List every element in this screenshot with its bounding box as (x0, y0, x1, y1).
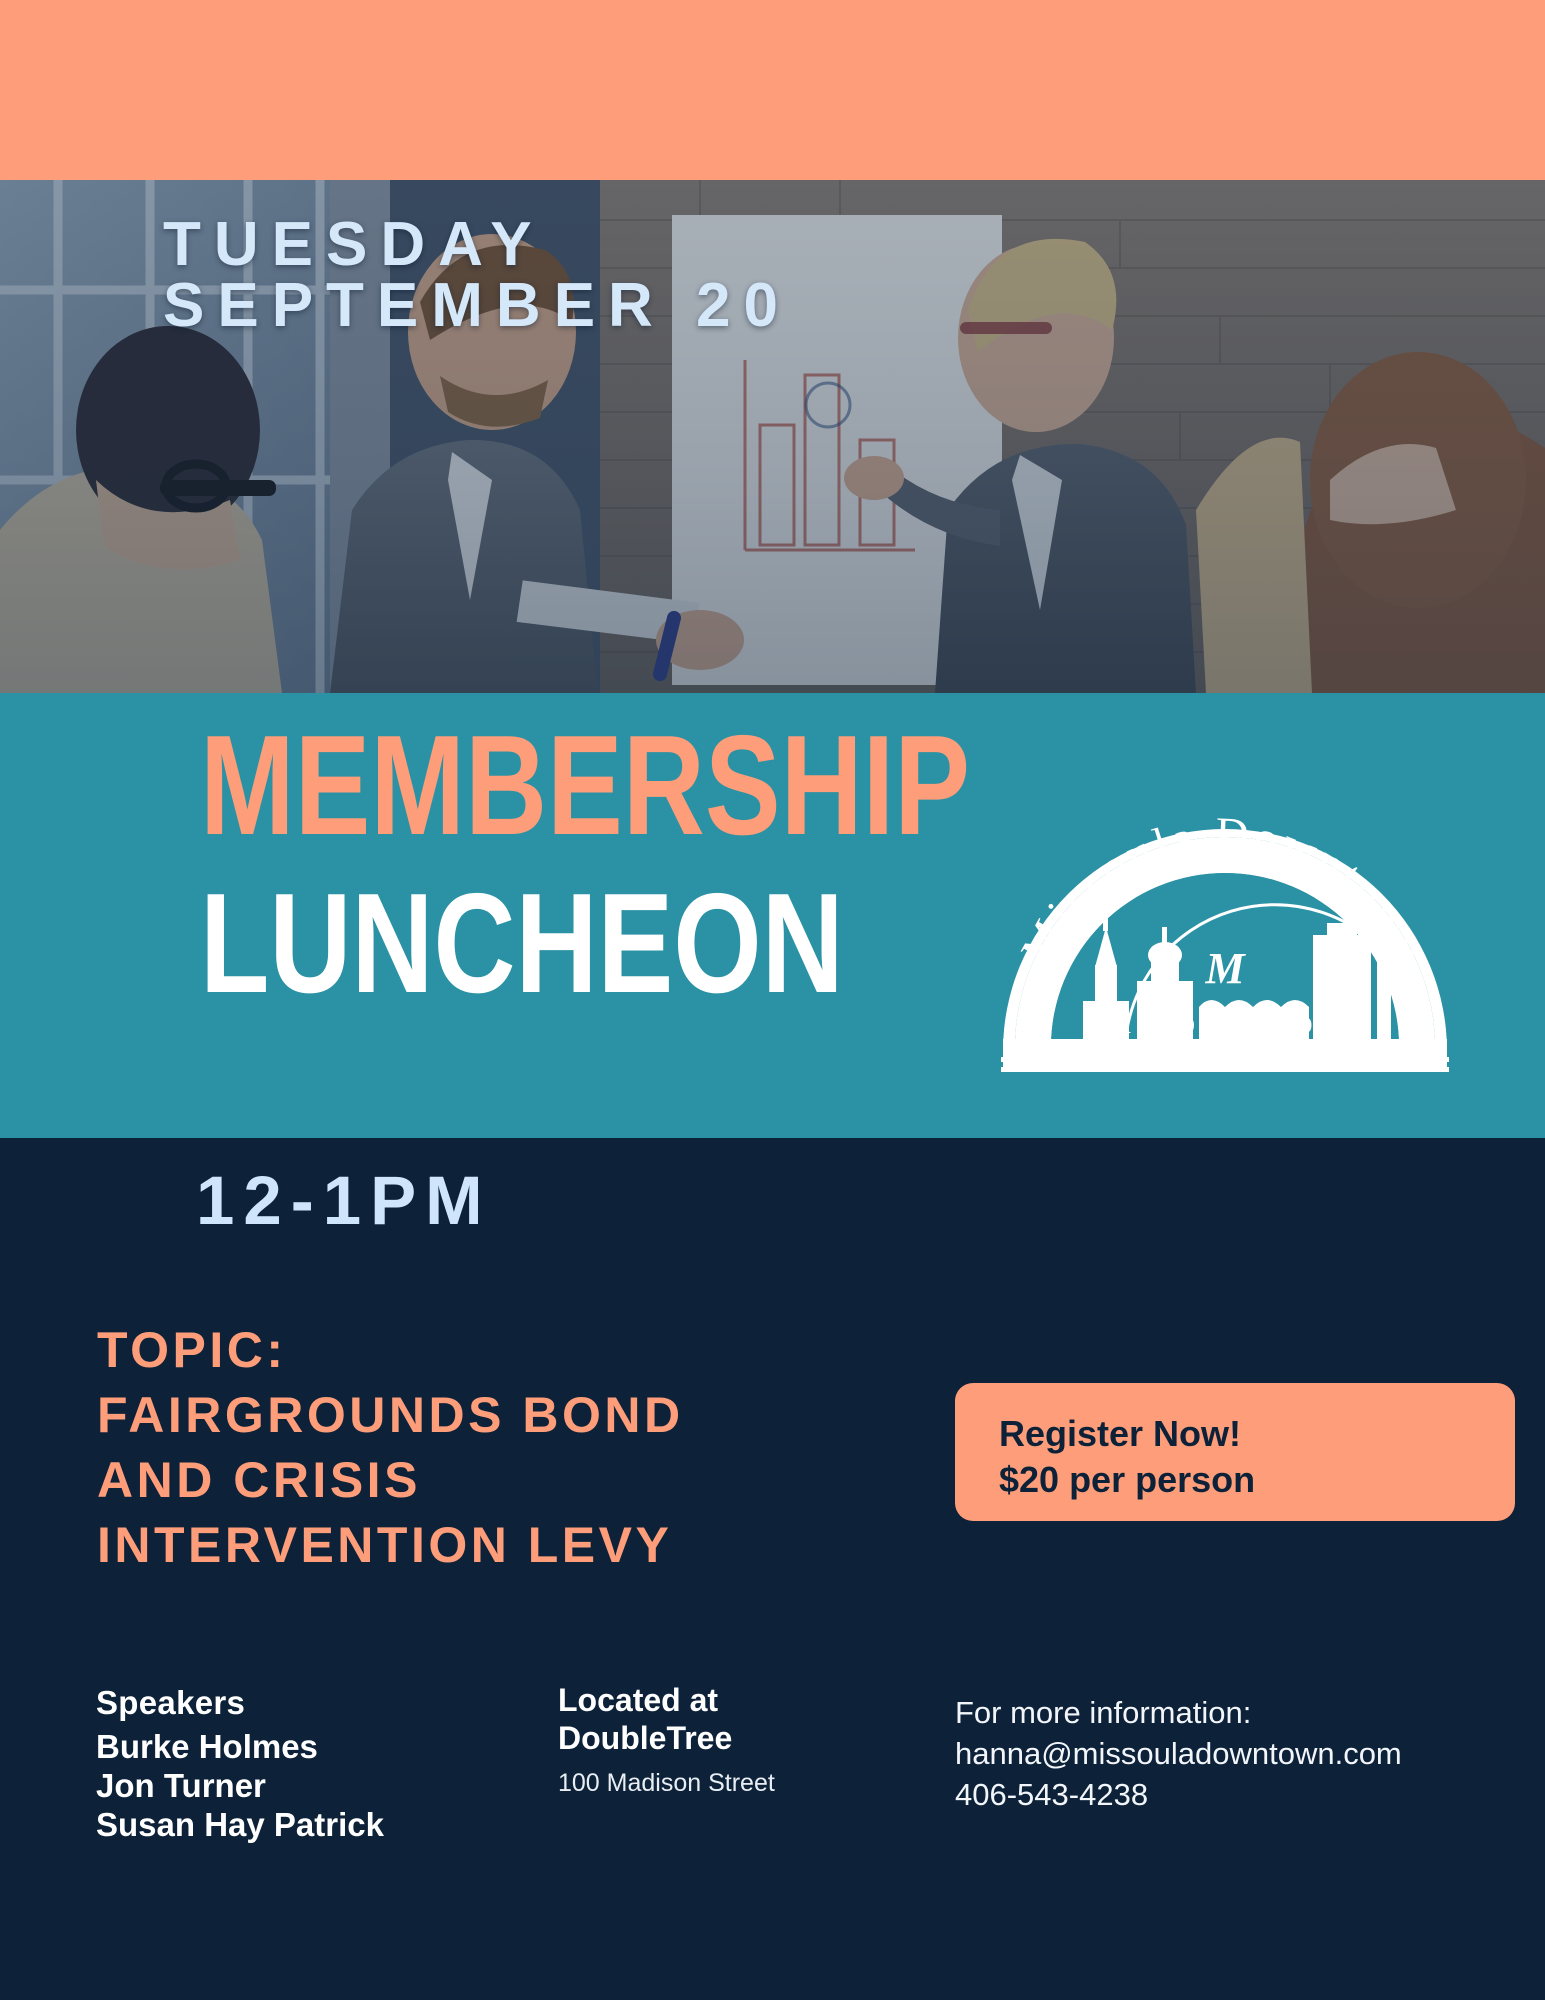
top-accent-bar (0, 0, 1545, 180)
logo-monogram: M (1204, 944, 1246, 993)
speakers-block: Speakers Burke Holmes Jon Turner Susan H… (96, 1684, 384, 1845)
register-button[interactable]: Register Now! $20 per person (955, 1383, 1515, 1521)
topic-line-2: AND CRISIS (97, 1448, 684, 1513)
title-membership: MEMBERSHIP (200, 720, 970, 852)
topic-line-1: FAIRGROUNDS BOND (97, 1383, 684, 1448)
contact-block: For more information: hanna@missouladown… (955, 1693, 1402, 1816)
topic-line-3: INTERVENTION LEVY (97, 1513, 684, 1578)
flyer-root: TUESDAY SEPTEMBER 20 MEMBERSHIP LUNCHEON (0, 0, 1545, 2000)
topic-block: TOPIC: FAIRGROUNDS BOND AND CRISIS INTER… (97, 1318, 684, 1578)
missoula-downtown-association-logo: M Missoula Downtown Association (975, 795, 1475, 1075)
speakers-heading: Speakers (96, 1684, 384, 1722)
event-date: TUESDAY SEPTEMBER 20 (163, 215, 791, 337)
speaker-3: Susan Hay Patrick (96, 1806, 384, 1845)
venue-address: 100 Madison Street (558, 1769, 775, 1798)
contact-email[interactable]: hanna@missouladowntown.com (955, 1734, 1402, 1775)
mda-logo: M Missoula Downtown Association (975, 795, 1475, 1075)
register-price: $20 per person (999, 1457, 1515, 1503)
venue-block: Located at DoubleTree 100 Madison Street (558, 1682, 775, 1798)
contact-phone[interactable]: 406-543-4238 (955, 1775, 1402, 1816)
speaker-2: Jon Turner (96, 1767, 384, 1806)
speaker-1: Burke Holmes (96, 1728, 384, 1767)
title-luncheon: LUNCHEON (200, 878, 970, 1010)
date-monthday: SEPTEMBER 20 (163, 276, 791, 337)
venue-located-at: Located at (558, 1682, 775, 1720)
contact-heading: For more information: (955, 1693, 1402, 1734)
topic-label: TOPIC: (97, 1318, 684, 1383)
logo-association-text: Association (1106, 1004, 1344, 1041)
venue-name: DoubleTree (558, 1720, 775, 1758)
event-time: 12-1PM (196, 1161, 492, 1240)
register-cta: Register Now! (999, 1411, 1515, 1457)
date-weekday: TUESDAY (163, 215, 791, 276)
